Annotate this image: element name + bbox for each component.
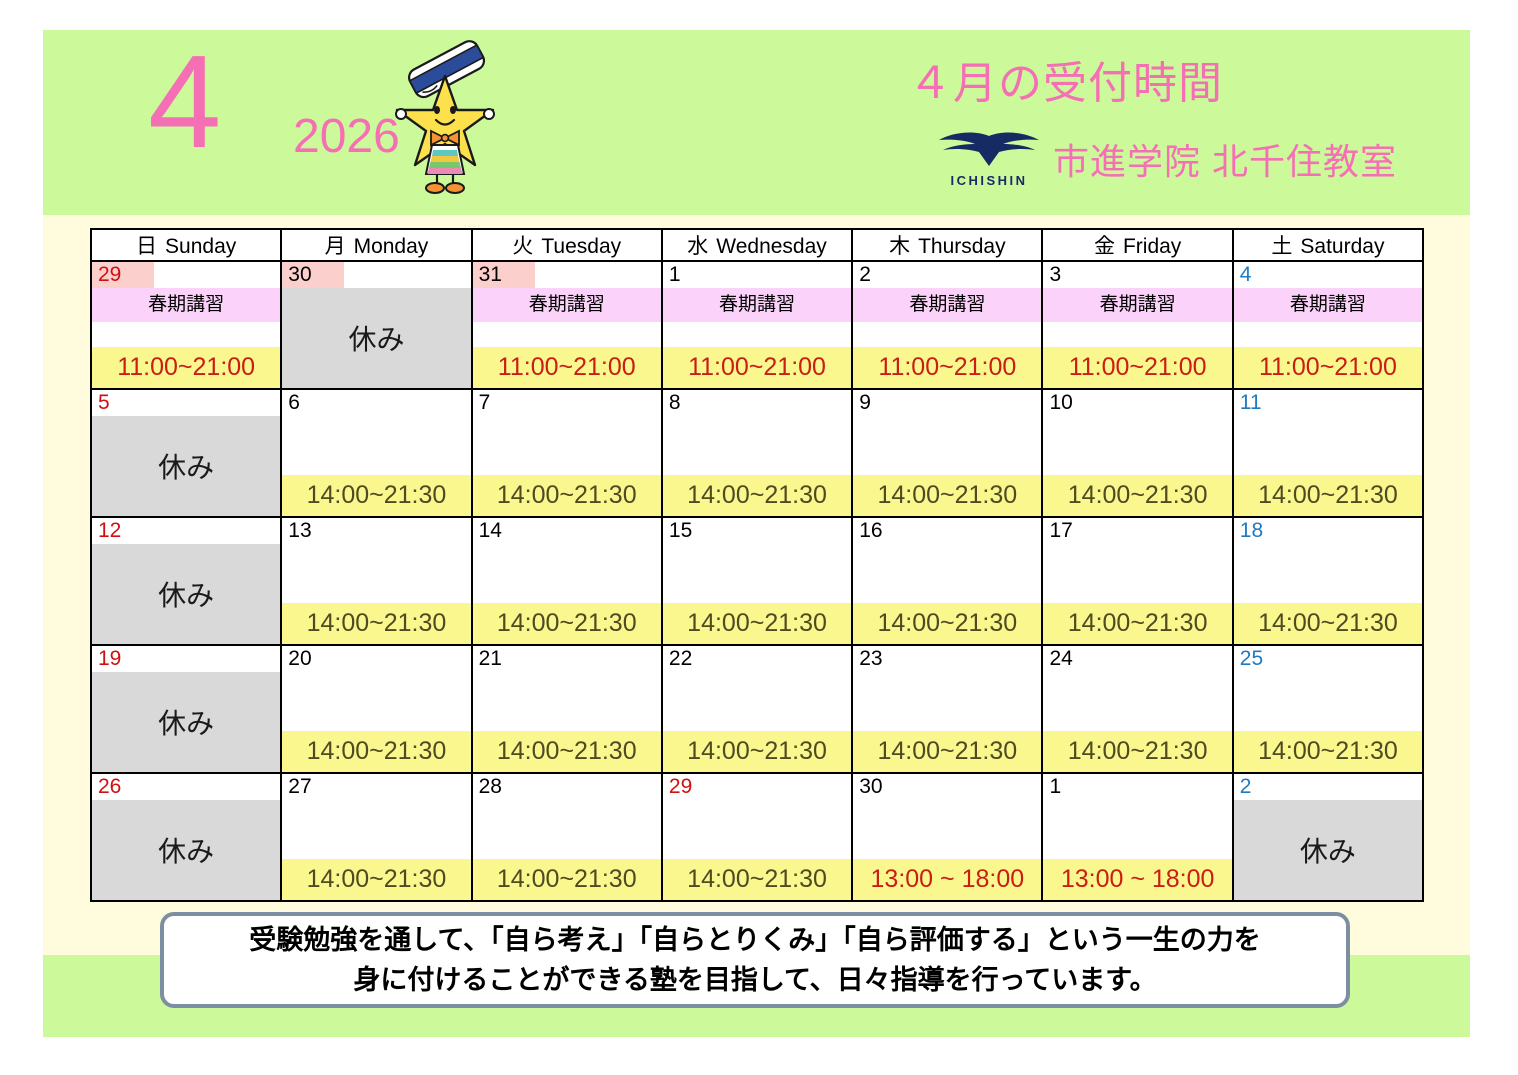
closed-badge: 休み (282, 288, 470, 388)
day-number: 18 (1234, 518, 1263, 544)
calendar-day-cell[interactable]: 2514:00~21:30 (1233, 645, 1423, 773)
weekday-header-friday: 金Friday (1042, 229, 1232, 261)
calendar-day-cell[interactable]: 2414:00~21:30 (1042, 645, 1232, 773)
day-number: 19 (92, 646, 121, 672)
day-cell-content: 2014:00~21:30 (282, 646, 470, 772)
calendar-day-cell[interactable]: 5休み (91, 389, 281, 517)
opening-hours: 14:00~21:30 (663, 859, 851, 900)
calendar-week-row: 29春期講習11:00~21:0030休み31春期講習11:00~21:001春… (91, 261, 1423, 389)
calendar-day-cell[interactable]: 1614:00~21:30 (852, 517, 1042, 645)
calendar-day-cell[interactable]: 1714:00~21:30 (1042, 517, 1232, 645)
day-number: 21 (473, 646, 502, 672)
opening-hours: 11:00~21:00 (1043, 347, 1231, 388)
day-cell-content: 2814:00~21:30 (473, 774, 661, 900)
closed-badge: 休み (92, 416, 280, 516)
message-line-1: 受験勉強を通して、「自ら考え」「自らとりくみ」「自ら評価する」という一生の力を (249, 925, 1260, 955)
weekday-header-monday: 月Monday (281, 229, 471, 261)
day-cell-content: 4春期講習11:00~21:00 (1234, 262, 1422, 388)
day-number: 10 (1043, 390, 1072, 416)
day-number: 5 (92, 390, 110, 416)
weekday-jp-label: 木 (889, 235, 918, 258)
calendar-day-cell[interactable]: 2114:00~21:30 (472, 645, 662, 773)
weekday-en-label: Thursday (918, 235, 1006, 258)
opening-hours: 14:00~21:30 (282, 731, 470, 772)
day-number: 25 (1234, 646, 1263, 672)
opening-hours: 14:00~21:30 (282, 603, 470, 644)
calendar-day-cell[interactable]: 1114:00~21:30 (1233, 389, 1423, 517)
opening-hours: 13:00 ~ 18:00 (853, 859, 1041, 900)
brand-name: 市進学院 北千住教室 (1053, 133, 1397, 185)
philosophy-message-box: 受験勉強を通して、「自ら考え」「自らとりくみ」「自ら評価する」という一生の力を … (160, 912, 1350, 1008)
spring-course-badge: 春期講習 (1043, 288, 1231, 322)
day-number: 24 (1043, 646, 1072, 672)
calendar-day-cell[interactable]: 19休み (91, 645, 281, 773)
calendar-day-cell[interactable]: 113:00 ~ 18:00 (1042, 773, 1232, 901)
closed-badge: 休み (92, 800, 280, 900)
day-cell-content: 914:00~21:30 (853, 390, 1041, 516)
day-cell-content: 1414:00~21:30 (473, 518, 661, 644)
day-cell-content: 19休み (92, 646, 280, 772)
spring-course-badge: 春期講習 (663, 288, 851, 322)
calendar-day-cell[interactable]: 714:00~21:30 (472, 389, 662, 517)
day-cell-content: 1814:00~21:30 (1234, 518, 1422, 644)
opening-hours: 14:00~21:30 (1234, 475, 1422, 516)
month-number: 4 (148, 36, 219, 168)
year-number: 2026 (293, 113, 400, 161)
opening-hours: 14:00~21:30 (663, 603, 851, 644)
weekday-jp-label: 火 (512, 235, 541, 258)
day-number: 17 (1043, 518, 1072, 544)
day-cell-content: 3春期講習11:00~21:00 (1043, 262, 1231, 388)
opening-hours: 14:00~21:30 (1043, 475, 1231, 516)
calendar-week-row: 5休み614:00~21:30714:00~21:30814:00~21:309… (91, 389, 1423, 517)
day-number: 11 (1234, 390, 1262, 416)
day-cell-content: 814:00~21:30 (663, 390, 851, 516)
calendar-day-cell[interactable]: 29春期講習11:00~21:00 (91, 261, 281, 389)
day-number: 9 (853, 390, 871, 416)
message-line-2: 身に付けることができる塾を目指して、日々指導を行っています。 (353, 965, 1156, 995)
day-number: 22 (663, 646, 692, 672)
calendar-day-cell[interactable]: 31春期講習11:00~21:00 (472, 261, 662, 389)
day-cell-content: 2914:00~21:30 (663, 774, 851, 900)
day-number: 29 (663, 774, 692, 800)
day-cell-content: 1114:00~21:30 (1234, 390, 1422, 516)
calendar-day-cell[interactable]: 1814:00~21:30 (1233, 517, 1423, 645)
closed-badge: 休み (92, 672, 280, 772)
opening-hours: 14:00~21:30 (853, 603, 1041, 644)
calendar-day-cell[interactable]: 26休み (91, 773, 281, 901)
day-number: 2 (853, 262, 871, 288)
weekday-en-label: Friday (1123, 235, 1181, 258)
calendar-day-cell[interactable]: 2休み (1233, 773, 1423, 901)
day-cell-content: 2214:00~21:30 (663, 646, 851, 772)
day-cell-content: 1714:00~21:30 (1043, 518, 1231, 644)
day-cell-content: 2114:00~21:30 (473, 646, 661, 772)
day-number: 4 (1234, 262, 1252, 288)
calendar-day-cell[interactable]: 614:00~21:30 (281, 389, 471, 517)
day-cell-content: 1314:00~21:30 (282, 518, 470, 644)
day-cell-content: 2314:00~21:30 (853, 646, 1041, 772)
opening-hours: 14:00~21:30 (663, 475, 851, 516)
opening-hours: 11:00~21:00 (92, 347, 280, 388)
day-number: 6 (282, 390, 300, 416)
calendar-week-row: 26休み2714:00~21:302814:00~21:302914:00~21… (91, 773, 1423, 901)
calendar-day-cell[interactable]: 2014:00~21:30 (281, 645, 471, 773)
day-number: 31 (473, 262, 535, 288)
opening-hours: 14:00~21:30 (282, 859, 470, 900)
opening-hours: 13:00 ~ 18:00 (1043, 859, 1231, 900)
closed-badge: 休み (1234, 800, 1422, 900)
calendar-day-cell[interactable]: 3013:00 ~ 18:00 (852, 773, 1042, 901)
day-number: 16 (853, 518, 882, 544)
opening-hours: 14:00~21:30 (1043, 603, 1231, 644)
day-number: 7 (473, 390, 491, 416)
calendar-day-cell[interactable]: 2314:00~21:30 (852, 645, 1042, 773)
calendar-day-cell[interactable]: 30休み (281, 261, 471, 389)
spring-course-badge: 春期講習 (1234, 288, 1422, 322)
day-number: 1 (1043, 774, 1061, 800)
star-character-with-eraser-icon (385, 32, 505, 197)
opening-hours: 14:00~21:30 (1043, 731, 1231, 772)
calendar-day-cell[interactable]: 1414:00~21:30 (472, 517, 662, 645)
day-cell-content: 3013:00 ~ 18:00 (853, 774, 1041, 900)
opening-hours: 14:00~21:30 (473, 603, 661, 644)
opening-hours: 11:00~21:00 (473, 347, 661, 388)
day-cell-content: 2春期講習11:00~21:00 (853, 262, 1041, 388)
calendar-day-cell[interactable]: 2214:00~21:30 (662, 645, 852, 773)
weekday-header-tuesday: 火Tuesday (472, 229, 662, 261)
page-title: ４月の受付時間 (908, 60, 1223, 108)
monthly-schedule-table: 日Sunday月Monday火Tuesday水Wednesday木Thursda… (90, 228, 1424, 902)
weekday-jp-label: 土 (1271, 235, 1300, 258)
day-number: 14 (473, 518, 502, 544)
calendar-week-row: 19休み2014:00~21:302114:00~21:302214:00~21… (91, 645, 1423, 773)
day-number: 30 (853, 774, 882, 800)
weekday-en-label: Tuesday (541, 235, 621, 258)
calendar-day-cell[interactable]: 12休み (91, 517, 281, 645)
day-number: 20 (282, 646, 311, 672)
opening-hours: 14:00~21:30 (473, 475, 661, 516)
day-number: 27 (282, 774, 311, 800)
calendar-page: 4 2026 (0, 0, 1518, 1075)
day-cell-content: 5休み (92, 390, 280, 516)
weekday-jp-label: 日 (136, 235, 165, 258)
day-number: 26 (92, 774, 121, 800)
day-number: 8 (663, 390, 681, 416)
opening-hours: 14:00~21:30 (853, 475, 1041, 516)
opening-hours: 14:00~21:30 (1234, 731, 1422, 772)
day-number: 3 (1043, 262, 1061, 288)
calendar-day-cell[interactable]: 814:00~21:30 (662, 389, 852, 517)
day-cell-content: 2休み (1234, 774, 1422, 900)
day-number: 15 (663, 518, 692, 544)
day-cell-content: 2414:00~21:30 (1043, 646, 1231, 772)
calendar-day-cell[interactable]: 2814:00~21:30 (472, 773, 662, 901)
calendar-day-cell[interactable]: 2714:00~21:30 (281, 773, 471, 901)
weekday-header-row: 日Sunday月Monday火Tuesday水Wednesday木Thursda… (91, 229, 1423, 261)
day-cell-content: 614:00~21:30 (282, 390, 470, 516)
day-number: 1 (663, 262, 681, 288)
day-cell-content: 12休み (92, 518, 280, 644)
opening-hours: 11:00~21:00 (853, 347, 1041, 388)
calendar-day-cell[interactable]: 2春期講習11:00~21:00 (852, 261, 1042, 389)
brand-wordmark: ICHISHIN (935, 173, 1043, 188)
calendar-day-cell[interactable]: 4春期講習11:00~21:00 (1233, 261, 1423, 389)
calendar-day-cell[interactable]: 1314:00~21:30 (281, 517, 471, 645)
weekday-jp-label: 月 (325, 235, 354, 258)
calendar-day-cell[interactable]: 1014:00~21:30 (1042, 389, 1232, 517)
opening-hours: 14:00~21:30 (282, 475, 470, 516)
spring-course-badge: 春期講習 (92, 288, 280, 322)
closed-badge: 休み (92, 544, 280, 644)
day-number: 30 (282, 262, 344, 288)
weekday-en-label: Sunday (165, 235, 236, 258)
day-cell-content: 1514:00~21:30 (663, 518, 851, 644)
weekday-header-saturday: 土Saturday (1233, 229, 1423, 261)
day-cell-content: 113:00 ~ 18:00 (1043, 774, 1231, 900)
weekday-en-label: Saturday (1300, 235, 1384, 258)
day-cell-content: 714:00~21:30 (473, 390, 661, 516)
weekday-header-sunday: 日Sunday (91, 229, 281, 261)
day-number: 29 (92, 262, 154, 288)
day-cell-content: 31春期講習11:00~21:00 (473, 262, 661, 388)
day-cell-content: 29春期講習11:00~21:00 (92, 262, 280, 388)
ichishin-wings-logo-icon: ICHISHIN (935, 130, 1043, 188)
opening-hours: 14:00~21:30 (473, 731, 661, 772)
day-cell-content: 26休み (92, 774, 280, 900)
opening-hours: 11:00~21:00 (663, 347, 851, 388)
day-cell-content: 1014:00~21:30 (1043, 390, 1231, 516)
calendar-day-cell[interactable]: 914:00~21:30 (852, 389, 1042, 517)
opening-hours: 11:00~21:00 (1234, 347, 1422, 388)
opening-hours: 14:00~21:30 (473, 859, 661, 900)
day-cell-content: 2514:00~21:30 (1234, 646, 1422, 772)
spring-course-badge: 春期講習 (853, 288, 1041, 322)
calendar-day-cell[interactable]: 2914:00~21:30 (662, 773, 852, 901)
calendar-day-cell[interactable]: 3春期講習11:00~21:00 (1042, 261, 1232, 389)
weekday-jp-label: 水 (687, 235, 716, 258)
philosophy-message-text: 受験勉強を通して、「自ら考え」「自らとりくみ」「自ら評価する」という一生の力を … (231, 920, 1278, 1001)
brand-row: ICHISHIN 市進学院 北千住教室 (935, 130, 1397, 188)
weekday-header-wednesday: 水Wednesday (662, 229, 852, 261)
day-cell-content: 1春期講習11:00~21:00 (663, 262, 851, 388)
day-number: 13 (282, 518, 311, 544)
day-number: 2 (1234, 774, 1252, 800)
calendar-week-row: 12休み1314:00~21:301414:00~21:301514:00~21… (91, 517, 1423, 645)
day-number: 12 (92, 518, 121, 544)
weekday-en-label: Monday (354, 235, 429, 258)
calendar-day-cell[interactable]: 1514:00~21:30 (662, 517, 852, 645)
weekday-header-thursday: 木Thursday (852, 229, 1042, 261)
day-number: 23 (853, 646, 882, 672)
opening-hours: 14:00~21:30 (1234, 603, 1422, 644)
opening-hours: 14:00~21:30 (663, 731, 851, 772)
day-cell-content: 30休み (282, 262, 470, 388)
opening-hours: 14:00~21:30 (853, 731, 1041, 772)
calendar-day-cell[interactable]: 1春期講習11:00~21:00 (662, 261, 852, 389)
day-cell-content: 2714:00~21:30 (282, 774, 470, 900)
spring-course-badge: 春期講習 (473, 288, 661, 322)
day-number: 28 (473, 774, 502, 800)
day-cell-content: 1614:00~21:30 (853, 518, 1041, 644)
weekday-en-label: Wednesday (716, 235, 827, 258)
weekday-jp-label: 金 (1094, 235, 1123, 258)
